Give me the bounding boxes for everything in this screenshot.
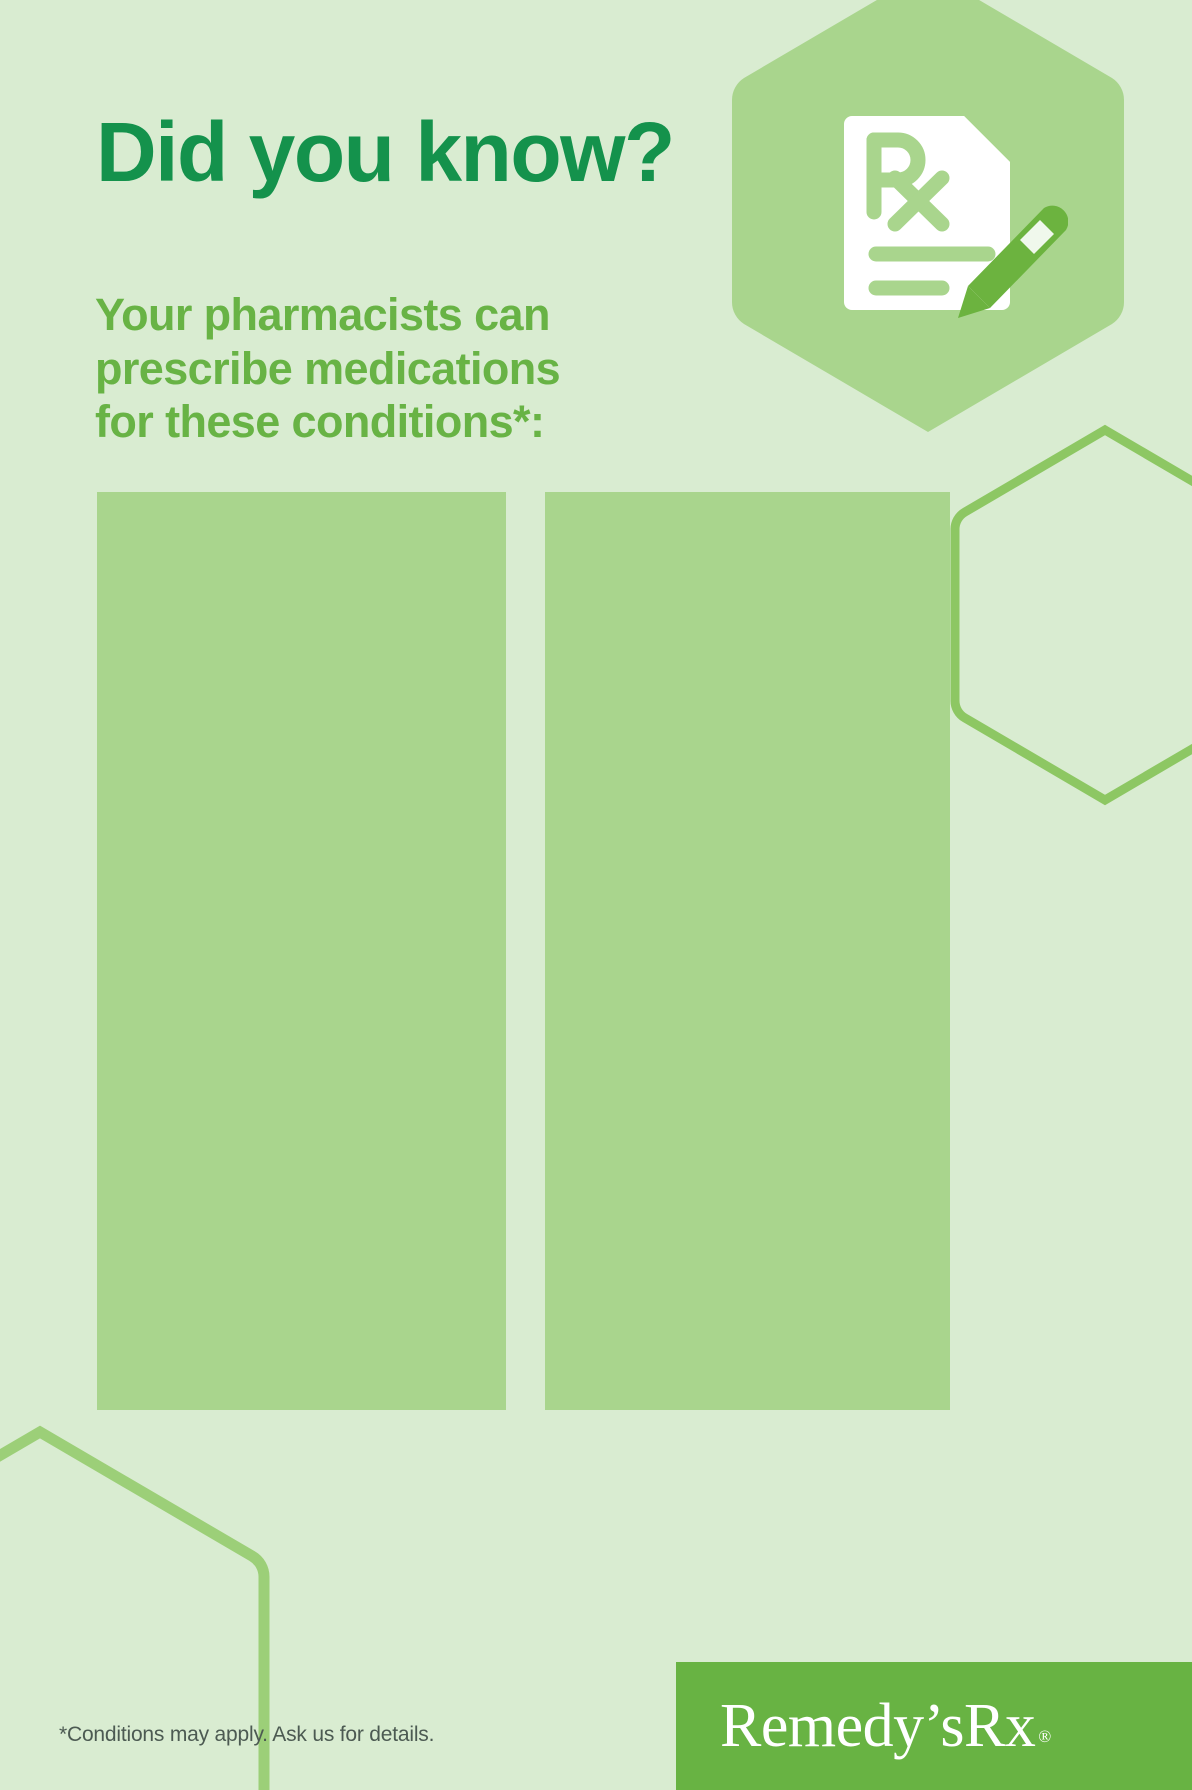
hexagon-outline-icon xyxy=(940,420,1192,810)
conditions-panel-left xyxy=(97,492,506,1410)
conditions-panel-right xyxy=(545,492,950,1410)
prescription-document-icon xyxy=(838,108,1068,330)
logo-wordmark-text: Remedy’sRx xyxy=(720,1692,1035,1760)
page-subtitle: Your pharmacists can prescribe medicatio… xyxy=(95,288,655,449)
footnote-text: *Conditions may apply. Ask us for detail… xyxy=(59,1722,434,1747)
poster-canvas: Did you know? Your pharmacists can presc… xyxy=(0,0,1192,1790)
remedysrx-logo: Remedy’sRx® xyxy=(676,1662,1192,1790)
registered-trademark-icon: ® xyxy=(1038,1727,1051,1746)
logo-wordmark: Remedy’sRx® xyxy=(720,1695,1051,1757)
page-title: Did you know? xyxy=(96,110,756,196)
